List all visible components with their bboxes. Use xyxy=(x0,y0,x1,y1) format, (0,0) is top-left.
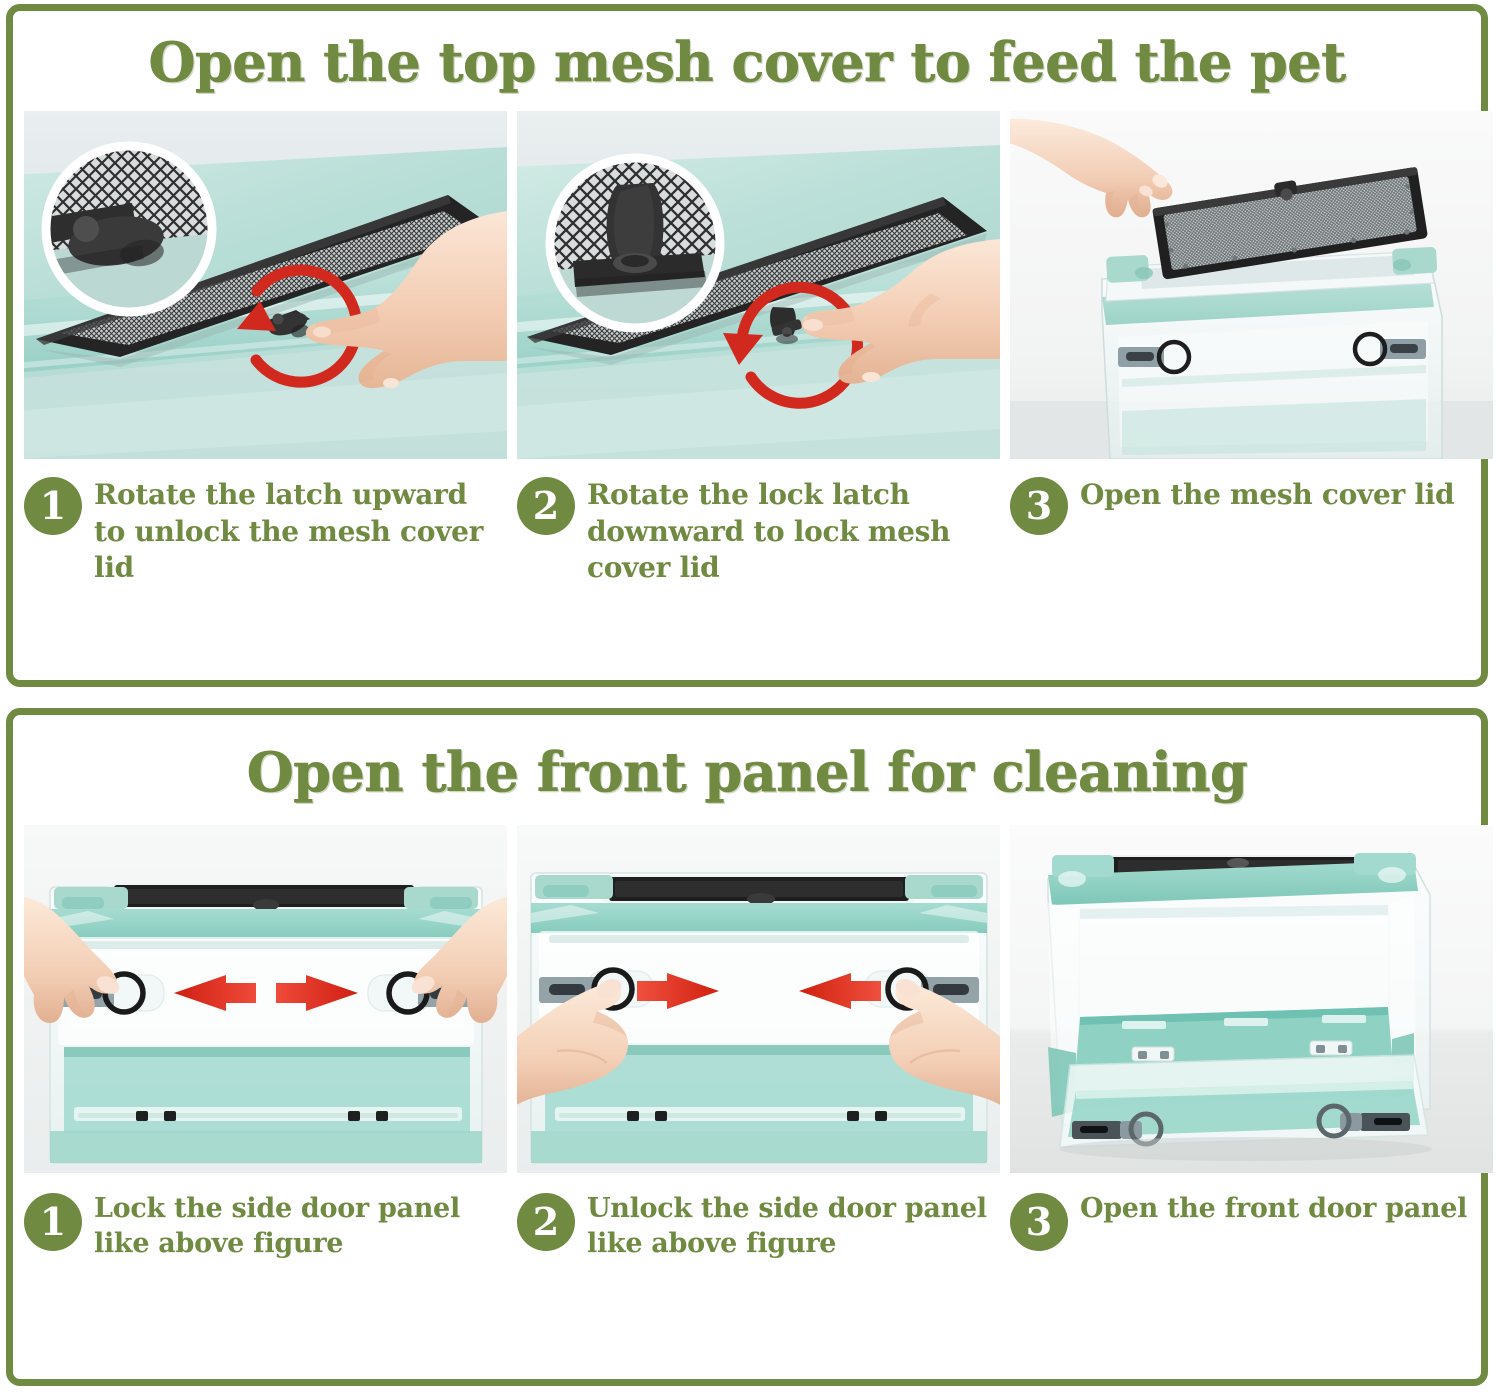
caption-text: Open the mesh cover lid xyxy=(1080,475,1454,513)
section-title-bottom: Open the front panel for cleaning xyxy=(13,737,1481,807)
step-number-badge: 2 xyxy=(517,1193,575,1251)
caption-row-bottom: 1 Lock the side door panel like above fi… xyxy=(13,1189,1481,1261)
photo-unlock-side-doors xyxy=(517,825,1000,1173)
infographic-page: Open the top mesh cover to feed the pet xyxy=(0,0,1500,1400)
caption-step-3: 3 Open the mesh cover lid xyxy=(1010,475,1493,586)
photo-latch-lock xyxy=(517,111,1000,459)
step-number-badge: 3 xyxy=(1010,1193,1068,1251)
step-number-badge: 1 xyxy=(24,1193,82,1251)
caption-step-2: 2 Rotate the lock latch downward to lock… xyxy=(517,475,1000,586)
section-title-top: Open the top mesh cover to feed the pet xyxy=(13,27,1481,97)
caption-step-3: 3 Open the front door panel xyxy=(1010,1189,1493,1261)
caption-row-top: 1 Rotate the latch upward to unlock the … xyxy=(13,475,1481,586)
caption-step-2: 2 Unlock the side door panel like above … xyxy=(517,1189,1000,1261)
caption-step-1: 1 Rotate the latch upward to unlock the … xyxy=(24,475,507,586)
step-number-badge: 2 xyxy=(517,477,575,535)
photo-front-panel-open xyxy=(1010,825,1493,1173)
photo-lift-mesh-lid xyxy=(1010,111,1493,459)
caption-text: Lock the side door panel like above figu… xyxy=(94,1189,507,1261)
caption-text: Rotate the latch upward to unlock the me… xyxy=(94,475,507,586)
caption-text: Rotate the lock latch downward to lock m… xyxy=(587,475,1000,586)
photo-row-top xyxy=(13,111,1481,459)
photo-lock-side-doors xyxy=(24,825,507,1173)
step-number-badge: 1 xyxy=(24,477,82,535)
photo-row-bottom xyxy=(13,825,1481,1173)
photo-latch-unlock xyxy=(24,111,507,459)
section-front-panel: Open the front panel for cleaning xyxy=(6,708,1488,1386)
caption-text: Unlock the side door panel like above fi… xyxy=(587,1189,1000,1261)
step-number-badge: 3 xyxy=(1010,477,1068,535)
caption-step-1: 1 Lock the side door panel like above fi… xyxy=(24,1189,507,1261)
section-top-mesh-cover: Open the top mesh cover to feed the pet xyxy=(6,4,1488,687)
caption-text: Open the front door panel xyxy=(1080,1189,1467,1226)
